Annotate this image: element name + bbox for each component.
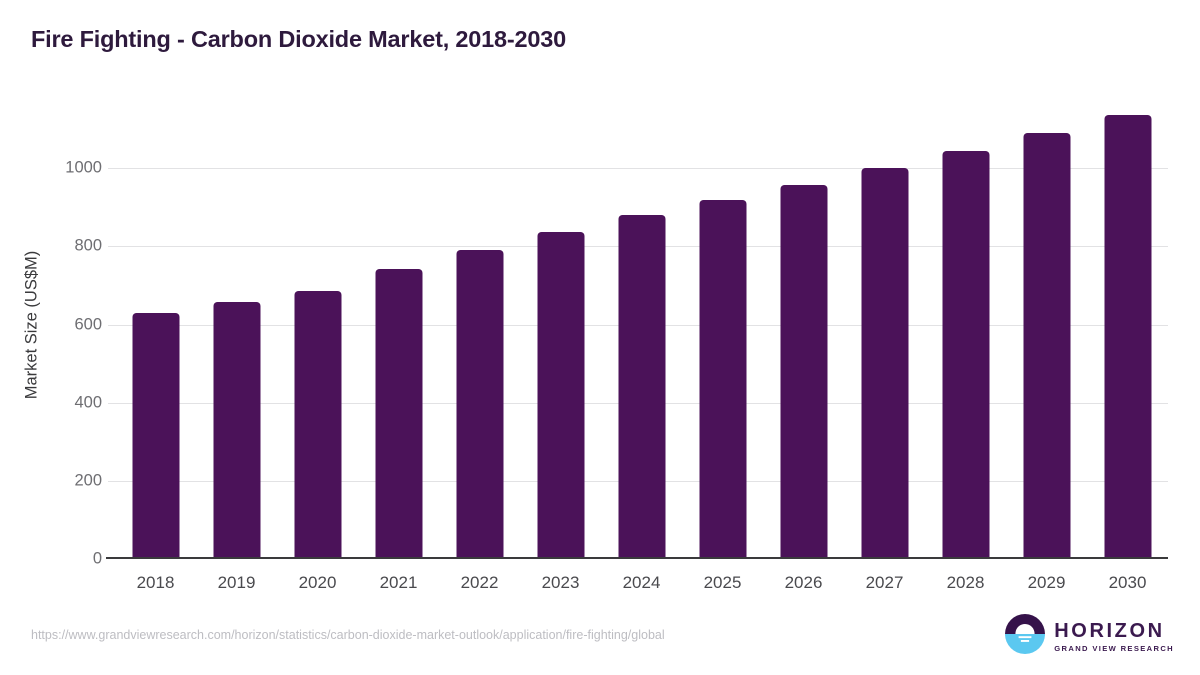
bar-group[interactable]: 2026 xyxy=(763,90,844,559)
x-axis-tick-label: 2022 xyxy=(461,573,499,593)
y-axis-tick xyxy=(108,325,115,326)
y-axis-tick xyxy=(108,168,115,169)
bar-group[interactable]: 2025 xyxy=(682,90,763,559)
x-axis-tick-label: 2020 xyxy=(299,573,337,593)
x-axis-tick-label: 2024 xyxy=(623,573,661,593)
x-axis-tick-label: 2018 xyxy=(137,573,175,593)
x-axis-tick-label: 2028 xyxy=(947,573,985,593)
x-axis-tick-label: 2030 xyxy=(1109,573,1147,593)
y-axis-tick xyxy=(108,403,115,404)
bar[interactable] xyxy=(942,151,989,559)
y-axis-tick-label: 200 xyxy=(74,471,102,490)
y-axis-tick-label: 400 xyxy=(74,393,102,412)
horizon-logo-text: HORIZON GRAND VIEW RESEARCH xyxy=(1054,621,1174,653)
bar-group[interactable]: 2024 xyxy=(601,90,682,559)
source-url[interactable]: https://www.grandviewresearch.com/horizo… xyxy=(31,628,665,642)
bar[interactable] xyxy=(699,200,746,559)
y-axis-tick xyxy=(108,481,115,482)
bar[interactable] xyxy=(456,250,503,559)
y-axis-title: Market Size (US$M) xyxy=(23,251,42,400)
bar[interactable] xyxy=(294,291,341,559)
bar-group[interactable]: 2027 xyxy=(844,90,925,559)
horizon-logo-icon xyxy=(1005,614,1045,659)
bar-group[interactable]: 2030 xyxy=(1087,90,1168,559)
logo-tagline: GRAND VIEW RESEARCH xyxy=(1054,645,1174,653)
bar[interactable] xyxy=(537,232,584,559)
bar[interactable] xyxy=(1104,115,1151,559)
x-axis-tick-label: 2027 xyxy=(866,573,904,593)
bar-series: 2018201920202021202220232024202520262027… xyxy=(115,90,1168,559)
bar[interactable] xyxy=(780,185,827,559)
y-axis-tick-label: 800 xyxy=(74,237,102,256)
bar-group[interactable]: 2028 xyxy=(925,90,1006,559)
bar[interactable] xyxy=(375,269,422,559)
plot-area: 02004006008001000 2018201920202021202220… xyxy=(115,90,1168,559)
x-axis-tick-label: 2021 xyxy=(380,573,418,593)
x-axis-tick-label: 2025 xyxy=(704,573,742,593)
y-axis-tick-label: 0 xyxy=(93,550,102,569)
x-axis-tick-label: 2026 xyxy=(785,573,823,593)
horizon-logo: HORIZON GRAND VIEW RESEARCH xyxy=(1005,614,1174,659)
y-axis-tick xyxy=(108,246,115,247)
bar[interactable] xyxy=(618,215,665,559)
y-axis-tick-label: 600 xyxy=(74,315,102,334)
x-axis-tick-label: 2029 xyxy=(1028,573,1066,593)
bar-group[interactable]: 2020 xyxy=(277,90,358,559)
x-axis-tick-label: 2019 xyxy=(218,573,256,593)
chart-card: Fire Fighting - Carbon Dioxide Market, 2… xyxy=(0,0,1200,675)
bar-group[interactable]: 2022 xyxy=(439,90,520,559)
bar[interactable] xyxy=(1023,133,1070,559)
page-title: Fire Fighting - Carbon Dioxide Market, 2… xyxy=(31,26,566,53)
bar-group[interactable]: 2023 xyxy=(520,90,601,559)
x-axis-line xyxy=(106,557,1168,559)
bar-group[interactable]: 2021 xyxy=(358,90,439,559)
x-axis-tick-label: 2023 xyxy=(542,573,580,593)
bar-group[interactable]: 2019 xyxy=(196,90,277,559)
bar[interactable] xyxy=(132,313,179,559)
bar[interactable] xyxy=(213,302,260,559)
bar-group[interactable]: 2029 xyxy=(1006,90,1087,559)
bar[interactable] xyxy=(861,168,908,559)
logo-wordmark: HORIZON xyxy=(1054,621,1174,641)
bar-group[interactable]: 2018 xyxy=(115,90,196,559)
y-axis-tick-label: 1000 xyxy=(65,159,102,178)
